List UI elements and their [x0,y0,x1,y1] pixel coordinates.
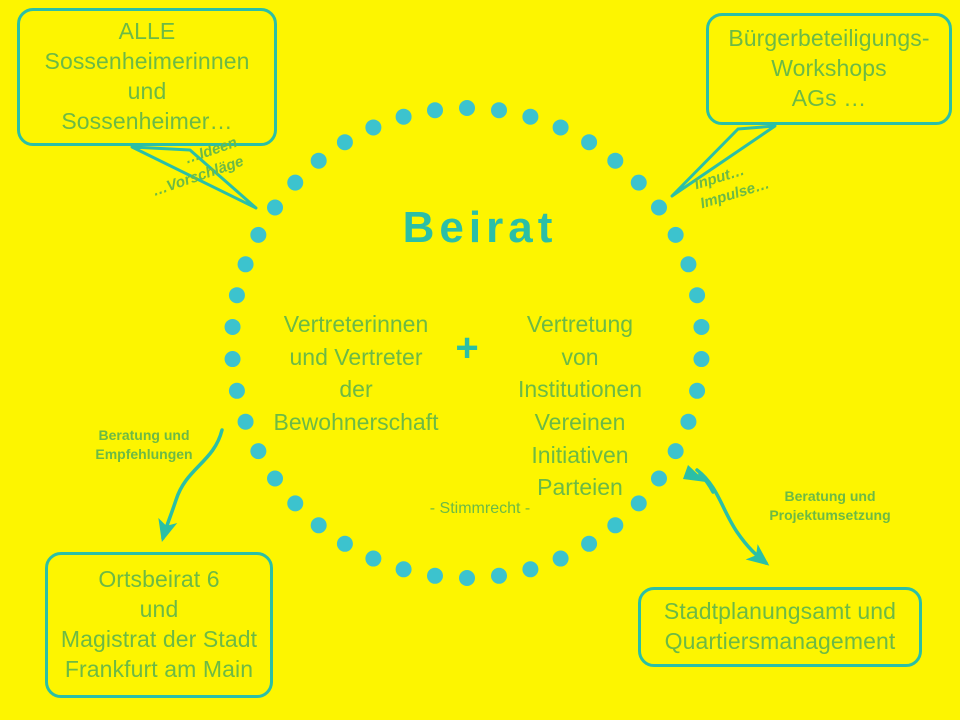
ring-dot [238,414,254,430]
ring-dot [693,319,709,335]
callout-text-stadtplanungsamt: Stadtplanungsamt und Quartiersmanagement [641,597,919,657]
ring-dot [607,153,623,169]
ring-dot [491,102,507,118]
callout-text-buergerbeteiligung: Bürgerbeteiligungs- Workshops AGs … [709,24,949,114]
ring-dot [287,175,303,191]
ring-dot [365,119,381,135]
ring-dot [311,517,327,533]
callout-box-alle-sossenheimer[interactable]: ALLE Sossenheimerinnen und Sossenheimer… [17,8,277,146]
ring-dot [689,383,705,399]
arrow-stub-upward [700,474,713,492]
ring-dot [267,471,283,487]
ring-dot [631,175,647,191]
ring-dot [581,536,597,552]
ring-dot [225,319,241,335]
ring-dot [522,561,538,577]
members-column-institutions: Vertretung von Institutionen Vereinen In… [492,308,668,504]
page-title: Beirat [0,203,960,253]
annotation-beratung-empfehlungen: Beratung und Empfehlungen [78,426,210,464]
ring-dot [337,134,353,150]
ring-dot [396,109,412,125]
ring-dot [607,517,623,533]
arrowhead-upward-icon [683,465,706,482]
ring-dot [427,102,443,118]
annotation-beratung-projektumsetzung: Beratung und Projektumsetzung [748,487,912,525]
ring-dot [238,256,254,272]
ring-dot [553,119,569,135]
ring-dot [522,109,538,125]
ring-dot [693,351,709,367]
ring-dot [459,100,475,116]
ring-dot [229,287,245,303]
ring-dot [225,351,241,367]
callout-box-buergerbeteiligung[interactable]: Bürgerbeteiligungs- Workshops AGs … [706,13,952,125]
callout-box-ortsbeirat[interactable]: Ortsbeirat 6 und Magistrat der Stadt Fra… [45,552,273,698]
members-column-residents: Vertreterinnen und Vertreter der Bewohne… [268,308,444,439]
ring-dot [553,551,569,567]
ring-dot [491,568,507,584]
ring-dot [668,443,684,459]
ring-dot [229,383,245,399]
callout-text-alle: ALLE Sossenheimerinnen und Sossenheimer… [20,17,274,137]
ring-dot [250,443,266,459]
diagram-canvas: ALLE Sossenheimerinnen und Sossenheimer…… [0,0,960,720]
ring-dot [459,570,475,586]
ring-dot [396,561,412,577]
ring-dot [680,414,696,430]
ring-dot [581,134,597,150]
ring-dot [689,287,705,303]
callout-text-ortsbeirat: Ortsbeirat 6 und Magistrat der Stadt Fra… [48,565,270,685]
ring-dot [337,536,353,552]
ring-dot [427,568,443,584]
ring-dot [311,153,327,169]
callout-box-stadtplanungsamt[interactable]: Stadtplanungsamt und Quartiersmanagement [638,587,922,667]
plus-icon: + [447,328,487,368]
ring-dot [365,551,381,567]
ring-dot [680,256,696,272]
